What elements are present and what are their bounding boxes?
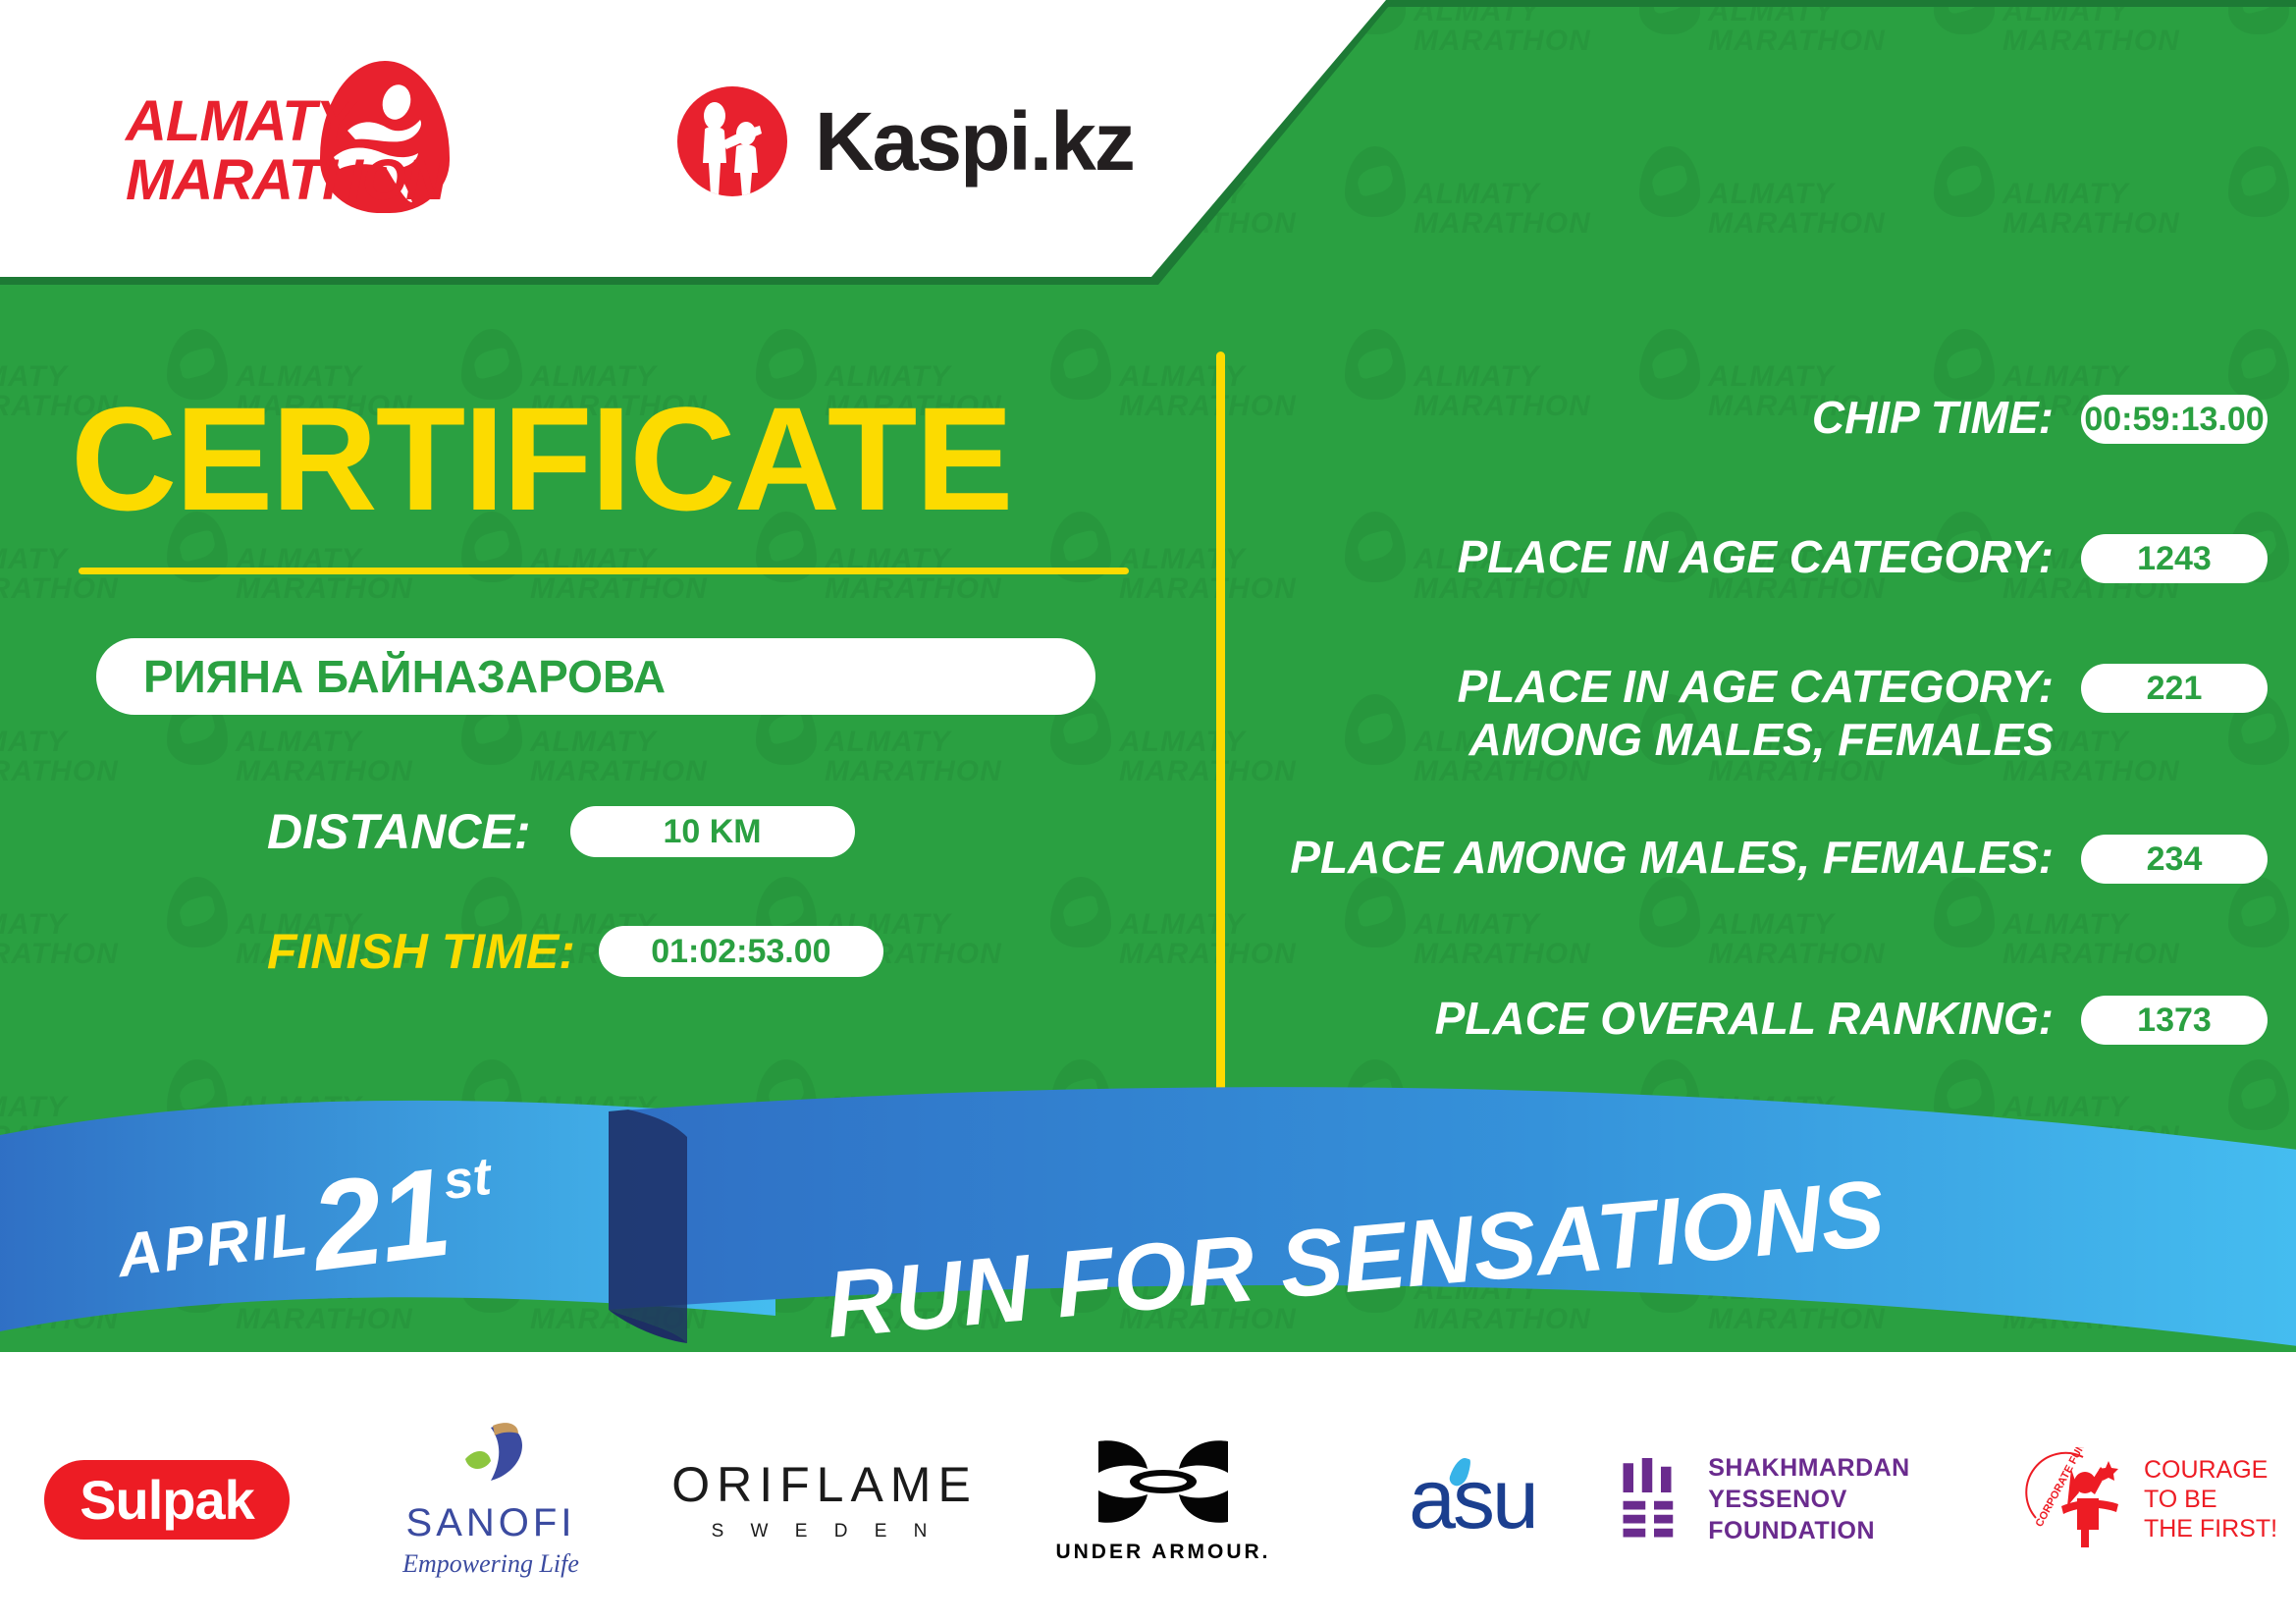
- page-title: CERTIFICATE: [71, 385, 1012, 532]
- watermark-text: ALMATYMARATHON: [1708, 7, 1886, 56]
- watermark-text: ALMATYMARATHON: [2002, 7, 2180, 56]
- watermark-text: ALMATYMARATHON: [1119, 545, 1297, 604]
- watermark-tile: ALMATYMARATHON: [2002, 150, 2296, 298]
- sulpak-logo: Sulpak: [44, 1460, 290, 1540]
- finish-time-label: FINISH TIME:: [267, 923, 575, 980]
- yessenov-mark-icon: [1620, 1452, 1686, 1546]
- watermark-droplet-icon: [1050, 329, 1111, 400]
- kaspi-logo: Kaspi.kz: [677, 86, 1090, 202]
- sanofi-mark-icon: [446, 1420, 536, 1496]
- stat-chip-time: CHIP TIME: 00:59:13.00: [1286, 391, 2268, 444]
- sponsor-oriflame: ORIFLAME S W E D E N: [648, 1426, 1001, 1573]
- watermark-text: ALMATYMARATHON: [825, 545, 1002, 604]
- watermark-tile: ALMATYMARATHON: [2002, 7, 2296, 115]
- watermark-droplet-icon: [2228, 877, 2289, 947]
- watermark-text: ALMATYMARATHON: [825, 728, 1002, 786]
- sponsor-sulpak: Sulpak: [0, 1426, 334, 1573]
- yessenov-name: SHAKHMARDAN YESSENOV: [1708, 1452, 2012, 1515]
- watermark-text: ALMATYMARATHON: [1414, 7, 1591, 56]
- courage-line2: TO BE: [2144, 1485, 2277, 1514]
- distance-value: 10 KM: [570, 806, 855, 857]
- watermark-text: ALMATYMARATHON: [1119, 910, 1297, 969]
- watermark-text: ALMATYMARATHON: [236, 728, 413, 786]
- courage-fund-logo: CORPORATE FUND COURAGE TO BE THE FIRST!: [2022, 1447, 2277, 1551]
- oriflame-tagline: S W E D E N: [671, 1521, 978, 1543]
- watermark-tile: ALMATYMARATHON: [1414, 150, 1708, 298]
- asu-logo: asu: [1409, 1451, 1536, 1548]
- watermark-droplet-icon: [1639, 877, 1700, 947]
- kaspi-circle-icon: [677, 86, 787, 196]
- courage-figure-icon: CORPORATE FUND: [2022, 1447, 2136, 1551]
- stat-place-age-category: PLACE IN AGE CATEGORY: 1243: [1286, 530, 2268, 583]
- watermark-tile: ALMATYMARATHON: [0, 698, 236, 845]
- watermark-text: ALMATYMARATHON: [530, 545, 708, 604]
- event-month: APRIL: [114, 1200, 313, 1290]
- watermark-text: ALMATYMARATHON: [1414, 180, 1591, 239]
- marathon-word-line1: ALMATY: [126, 92, 446, 151]
- watermark-tile: ALMATYMARATHON: [1414, 7, 1708, 115]
- watermark-text: ALMATYMARATHON: [0, 545, 119, 604]
- sponsor-yessenov-foundation: SHAKHMARDAN YESSENOV FOUNDATION: [1620, 1426, 2012, 1573]
- runner-name-field: РИЯНА БАЙНАЗАРОВА: [96, 638, 1095, 715]
- runner-name-value: РИЯНА БАЙНАЗАРОВА: [96, 650, 666, 703]
- event-day-suffix: st: [440, 1147, 494, 1211]
- watermark-droplet-icon: [1345, 877, 1406, 947]
- marathon-word-line2: MARATHON: [126, 151, 446, 210]
- oriflame-wordmark: ORIFLAME: [671, 1456, 978, 1513]
- courage-line1: COURAGE: [2144, 1455, 2277, 1485]
- watermark-droplet-icon: [167, 877, 228, 947]
- event-day: 21: [304, 1142, 456, 1298]
- stat-place-among-gender: PLACE AMONG MALES, FEMALES: 234: [1286, 831, 2268, 884]
- watermark-tile: ALMATYMARATHON: [1708, 150, 2002, 298]
- watermark-droplet-icon: [1639, 329, 1700, 400]
- watermark-droplet-icon: [1639, 146, 1700, 217]
- stat-label: PLACE OVERALL RANKING:: [1286, 992, 2081, 1045]
- title-underline: [79, 568, 1129, 574]
- watermark-text: ALMATYMARATHON: [0, 910, 119, 969]
- watermark-droplet-icon: [1934, 146, 1995, 217]
- watermark-text: ALMATYMARATHON: [1119, 728, 1297, 786]
- watermark-tile: ALMATYMARATHON: [0, 881, 236, 1028]
- distance-label: DISTANCE:: [267, 803, 531, 860]
- distance-row: DISTANCE: 10 KM: [267, 803, 855, 860]
- stat-value: 1243: [2081, 534, 2268, 583]
- stat-label: CHIP TIME:: [1286, 391, 2081, 444]
- watermark-droplet-icon: [1934, 877, 1995, 947]
- watermark-tile: ALMATYMARATHON: [1708, 7, 2002, 115]
- courage-line3: THE FIRST!: [2144, 1514, 2277, 1543]
- yessenov-wordmark: SHAKHMARDAN YESSENOV FOUNDATION: [1708, 1452, 2012, 1546]
- almaty-marathon-wordmark: ALMATY MARATHON: [126, 92, 446, 210]
- watermark-text: ALMATYMARATHON: [1708, 910, 1886, 969]
- sponsor-strip: Sulpak SANOFI Empowering Life ORIFLAME S…: [0, 1375, 2296, 1624]
- watermark-droplet-icon: [1345, 329, 1406, 400]
- sanofi-wordmark: SANOFI: [402, 1501, 579, 1545]
- under-armour-logo: UNDER ARMOUR.: [1055, 1435, 1270, 1564]
- yessenov-type: FOUNDATION: [1708, 1515, 2012, 1546]
- finish-time-value: 01:02:53.00: [599, 926, 883, 977]
- courage-wordmark: COURAGE TO BE THE FIRST!: [2144, 1455, 2277, 1543]
- stat-value: 00:59:13.00: [2081, 395, 2268, 444]
- watermark-droplet-icon: [1639, 7, 1700, 34]
- almaty-marathon-logo: ALMATY MARATHON: [126, 61, 450, 208]
- stat-overall-ranking: PLACE OVERALL RANKING: 1373: [1286, 992, 2268, 1045]
- column-divider: [1216, 352, 1225, 1098]
- stat-place-age-category-gender: PLACE IN AGE CATEGORY: AMONG MALES, FEMA…: [1286, 660, 2268, 766]
- sponsor-asu: asu: [1325, 1426, 1620, 1573]
- watermark-droplet-icon: [2228, 329, 2289, 400]
- watermark-droplet-icon: [1050, 877, 1111, 947]
- watermark-droplet-icon: [1345, 146, 1406, 217]
- sponsor-courage-fund: CORPORATE FUND COURAGE TO BE THE FIRST!: [2012, 1426, 2287, 1573]
- watermark-tile: ALMATYMARATHON: [825, 698, 1119, 845]
- watermark-text: ALMATYMARATHON: [0, 728, 119, 786]
- oriflame-logo: ORIFLAME S W E D E N: [671, 1456, 978, 1543]
- under-armour-mark-icon: [1089, 1435, 1238, 1530]
- watermark-text: ALMATYMARATHON: [2002, 180, 2180, 239]
- watermark-droplet-icon: [1934, 329, 1995, 400]
- watermark-text: ALMATYMARATHON: [236, 545, 413, 604]
- sanofi-tagline: Empowering Life: [402, 1549, 579, 1579]
- watermark-droplet-icon: [1934, 7, 1995, 34]
- kaspi-wordmark: Kaspi.kz: [815, 96, 1134, 187]
- watermark-text: ALMATYMARATHON: [2002, 910, 2180, 969]
- certificate-page: ALMATYMARATHONALMATYMARATHONALMATYMARATH…: [0, 0, 2296, 1624]
- stat-label: PLACE IN AGE CATEGORY: AMONG MALES, FEMA…: [1286, 660, 2081, 766]
- under-armour-wordmark: UNDER ARMOUR.: [1055, 1541, 1270, 1564]
- stat-value: 1373: [2081, 996, 2268, 1045]
- watermark-text: ALMATYMARATHON: [1708, 180, 1886, 239]
- sponsor-under-armour: UNDER ARMOUR.: [1001, 1426, 1325, 1573]
- yessenov-logo: SHAKHMARDAN YESSENOV FOUNDATION: [1620, 1452, 2012, 1546]
- finish-time-row: FINISH TIME: 01:02:53.00: [267, 923, 883, 980]
- watermark-droplet-icon: [2228, 7, 2289, 34]
- stat-label: PLACE IN AGE CATEGORY:: [1286, 530, 2081, 583]
- stat-value: 221: [2081, 664, 2268, 713]
- sponsor-sanofi: SANOFI Empowering Life: [334, 1426, 648, 1573]
- watermark-text: ALMATYMARATHON: [1414, 910, 1591, 969]
- stat-value: 234: [2081, 835, 2268, 884]
- watermark-droplet-icon: [2228, 146, 2289, 217]
- stat-label: PLACE AMONG MALES, FEMALES:: [1286, 831, 2081, 884]
- asu-wordmark: asu: [1409, 1452, 1536, 1546]
- watermark-text: ALMATYMARATHON: [1119, 362, 1297, 421]
- sanofi-logo: SANOFI Empowering Life: [402, 1420, 579, 1579]
- watermark-text: ALMATYMARATHON: [530, 728, 708, 786]
